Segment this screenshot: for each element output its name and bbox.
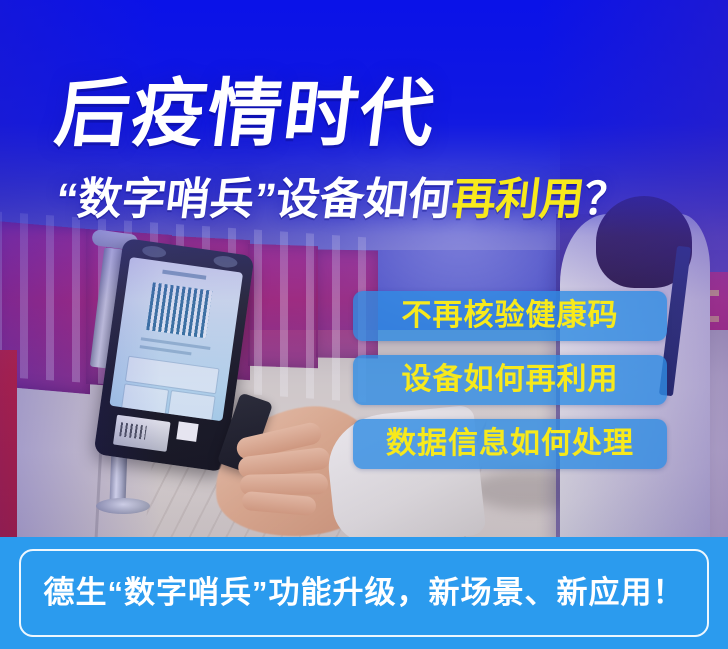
badge-list: 不再核验健康码 设备如何再利用 数据信息如何处理 xyxy=(353,291,667,469)
bottom-banner-frame: 德生“数字哨兵”功能升级，新场景、新应用！ xyxy=(19,549,709,637)
poster-root: 后疫情时代 “数字哨兵”设备如何再利用？ 不再核验健康码 设备如何再利用 数据信… xyxy=(0,0,728,649)
badge-label: 不再核验健康码 xyxy=(402,299,619,333)
photo-kiosk-label xyxy=(176,421,198,442)
photo-red-edge-strip xyxy=(0,350,17,537)
badge-label: 设备如何再利用 xyxy=(402,363,619,397)
photo-barrier-panel xyxy=(248,244,318,368)
photo-kiosk-pole-base xyxy=(96,498,150,514)
photo-screen-text-line xyxy=(140,345,192,355)
photo-screen-qr-code xyxy=(146,282,212,338)
badge-item-data-handling[interactable]: 数据信息如何处理 xyxy=(353,419,667,469)
badge-item-device-reuse[interactable]: 设备如何再利用 xyxy=(353,355,667,405)
photo-kiosk-screen xyxy=(109,257,243,421)
badge-label: 数据信息如何处理 xyxy=(386,427,634,461)
photo-screen-title-bar xyxy=(162,270,206,280)
bottom-banner: 德生“数字哨兵”功能升级，新场景、新应用！ xyxy=(0,537,728,649)
bottom-banner-label: 德生“数字哨兵”功能升级，新场景、新应用！ xyxy=(44,574,685,612)
badge-item-health-code[interactable]: 不再核验健康码 xyxy=(353,291,667,341)
